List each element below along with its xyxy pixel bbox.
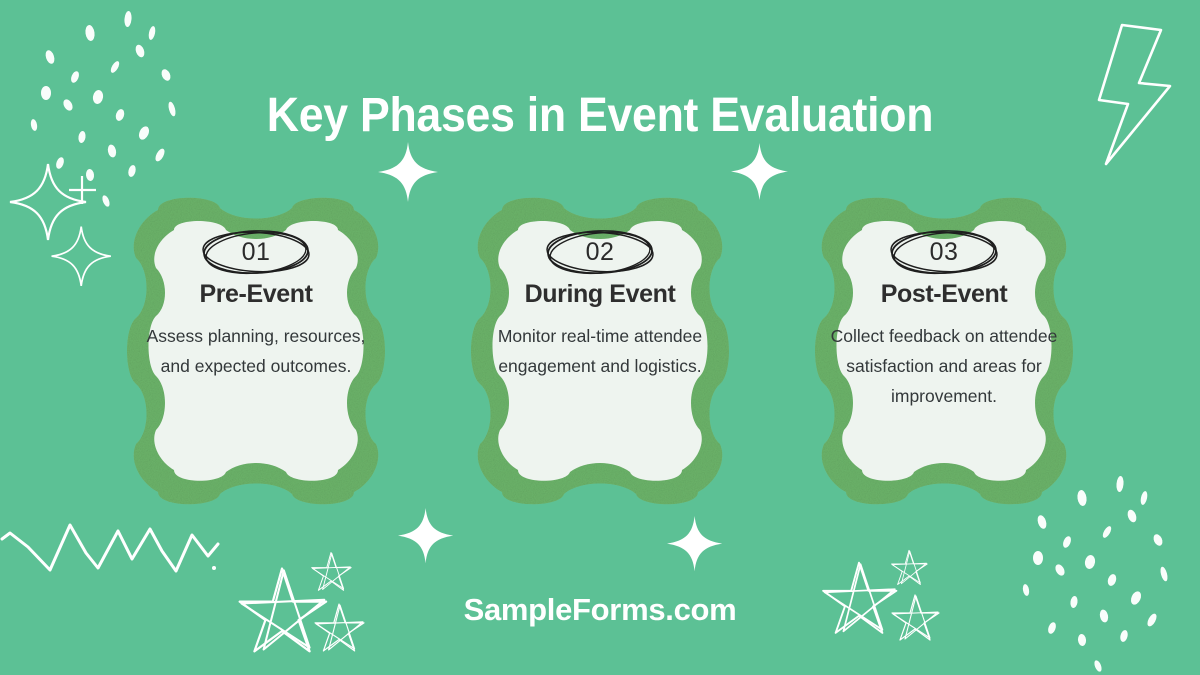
- card-title: During Event: [480, 280, 720, 309]
- zigzag-line-icon: [2, 525, 218, 571]
- card-title: Post-Event: [824, 280, 1064, 309]
- card-description: Collect feedback on attendee satisfactio…: [824, 321, 1064, 411]
- card-number-badge: 02: [540, 226, 660, 278]
- card-title: Pre-Event: [136, 280, 376, 309]
- sparkle-solid-title-left-icon: [378, 142, 438, 202]
- phase-card-1[interactable]: 01 Pre-Event Assess planning, resources,…: [96, 196, 416, 506]
- card-content: 03 Post-Event Collect feedback on attend…: [824, 226, 1064, 411]
- phase-card-3[interactable]: 03 Post-Event Collect feedback on attend…: [784, 196, 1104, 506]
- card-description: Monitor real-time attendee engagement an…: [480, 321, 720, 381]
- sparkle-solid-bottom-left-icon: [398, 508, 453, 563]
- phase-card-row: 01 Pre-Event Assess planning, resources,…: [0, 196, 1200, 506]
- infographic-canvas: Key Phases in Event Evaluation: [0, 0, 1200, 675]
- card-content: 02 During Event Monitor real-time attend…: [480, 226, 720, 381]
- card-number: 01: [196, 226, 316, 278]
- page-title: Key Phases in Event Evaluation: [42, 90, 1158, 143]
- sparkle-solid-bottom-center-icon: [667, 516, 722, 571]
- card-number: 02: [540, 226, 660, 278]
- card-number: 03: [884, 226, 1004, 278]
- card-number-badge: 03: [884, 226, 1004, 278]
- card-content: 01 Pre-Event Assess planning, resources,…: [136, 226, 376, 381]
- card-number-badge: 01: [196, 226, 316, 278]
- card-description: Assess planning, resources, and expected…: [136, 321, 376, 381]
- footer-brand[interactable]: SampleForms.com: [0, 592, 1200, 628]
- phase-card-2[interactable]: 02 During Event Monitor real-time attend…: [440, 196, 760, 506]
- sparkle-solid-title-right-icon: [731, 143, 788, 200]
